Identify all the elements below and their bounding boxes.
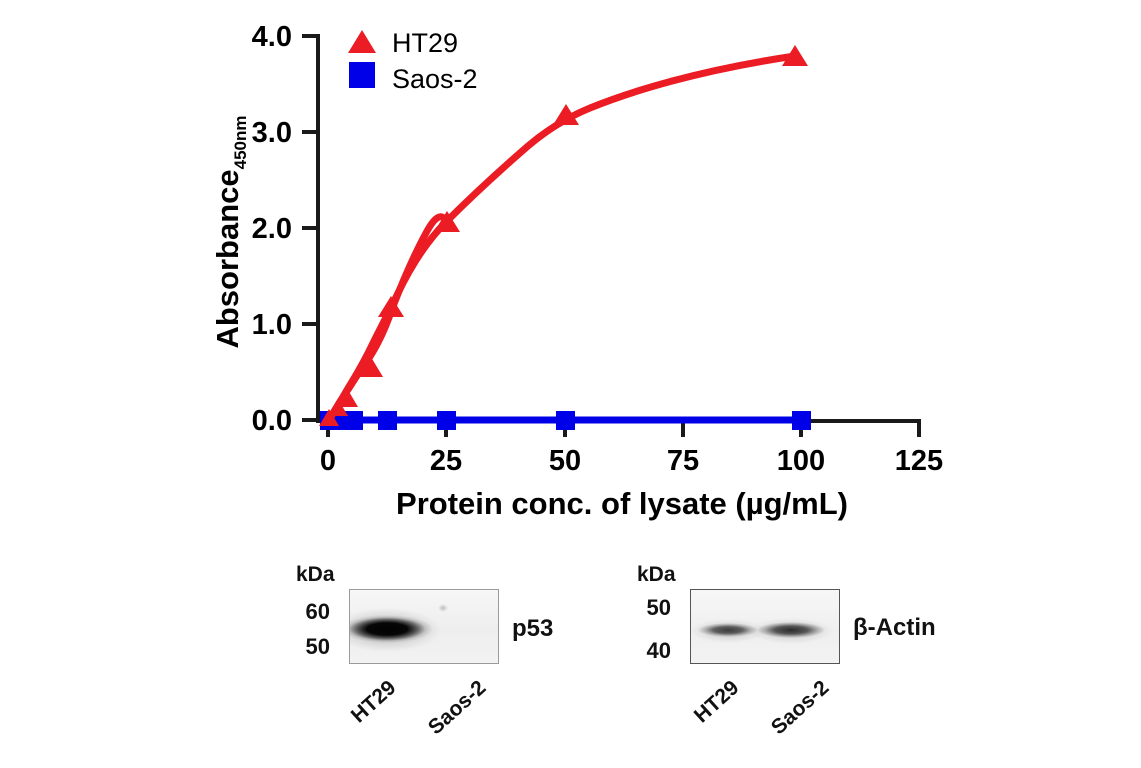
p53-kda-header: kDa xyxy=(296,563,335,587)
y-tick-label-4: 4.0 xyxy=(252,21,292,53)
p53-marker-50: 50 xyxy=(286,634,330,660)
legend-label-saos2: Saos-2 xyxy=(392,64,478,94)
b-actin-blot-image xyxy=(690,589,840,664)
x-tick-label-50: 50 xyxy=(549,445,581,477)
p53-lane-label-ht29: HT29 xyxy=(326,676,402,747)
data-point-ht29-4 xyxy=(378,296,404,317)
chart-legend: HT29 Saos-2 xyxy=(348,28,478,94)
b-actin-target-label: β-Actin xyxy=(853,614,936,642)
y-tick-label-0: 0.0 xyxy=(252,405,292,437)
x-tick-label-75: 75 xyxy=(667,445,699,477)
data-point-saos2-3 xyxy=(378,411,397,430)
b-actin-marker-40: 40 xyxy=(627,638,671,664)
p53-blot-image xyxy=(349,589,499,664)
absorbance-chart: 4.0 3.0 2.0 1.0 0.0 0 25 50 75 100 125 P… xyxy=(0,0,1141,560)
data-point-saos2-4 xyxy=(437,411,456,430)
y-tick-label-1: 1.0 xyxy=(252,309,292,341)
b-actin-kda-header: kDa xyxy=(637,563,676,587)
x-axis-title: Protein conc. of lysate (µg/mL) xyxy=(396,486,848,521)
data-point-saos2-6 xyxy=(792,411,811,430)
b-actin-lane-label-ht29: HT29 xyxy=(669,676,745,747)
y-axis-title-group: Absorbance450nm xyxy=(210,115,250,348)
x-tick-label-25: 25 xyxy=(430,445,462,477)
p53-target-label: p53 xyxy=(512,615,553,643)
legend-marker-ht29-icon xyxy=(348,30,376,53)
y-axis-title-subscript: 450nm xyxy=(231,115,250,169)
x-tick-label-0: 0 xyxy=(320,445,336,477)
y-tick-label-2: 2.0 xyxy=(252,213,292,245)
data-point-saos2-2 xyxy=(344,411,363,430)
y-tick-label-3: 3.0 xyxy=(252,117,292,149)
b-actin-lane-label-saos2: Saos-2 xyxy=(747,676,834,757)
data-point-saos2-5 xyxy=(556,411,575,430)
series-saos2 xyxy=(320,411,811,430)
x-tick-label-125: 125 xyxy=(895,445,943,477)
y-axis-ticks xyxy=(302,36,318,420)
x-tick-label-100: 100 xyxy=(777,445,825,477)
legend-marker-saos2-icon xyxy=(349,62,375,88)
series-ht29 xyxy=(319,45,808,426)
figure-root: 4.0 3.0 2.0 1.0 0.0 0 25 50 75 100 125 P… xyxy=(0,0,1141,768)
p53-lane-label-saos2: Saos-2 xyxy=(404,676,491,757)
legend-label-ht29: HT29 xyxy=(392,28,458,58)
y-axis-title: Absorbance xyxy=(210,169,245,348)
svg-text:Absorbance450nm: Absorbance450nm xyxy=(210,115,250,348)
p53-marker-60: 60 xyxy=(286,599,330,625)
b-actin-marker-50: 50 xyxy=(627,595,671,621)
